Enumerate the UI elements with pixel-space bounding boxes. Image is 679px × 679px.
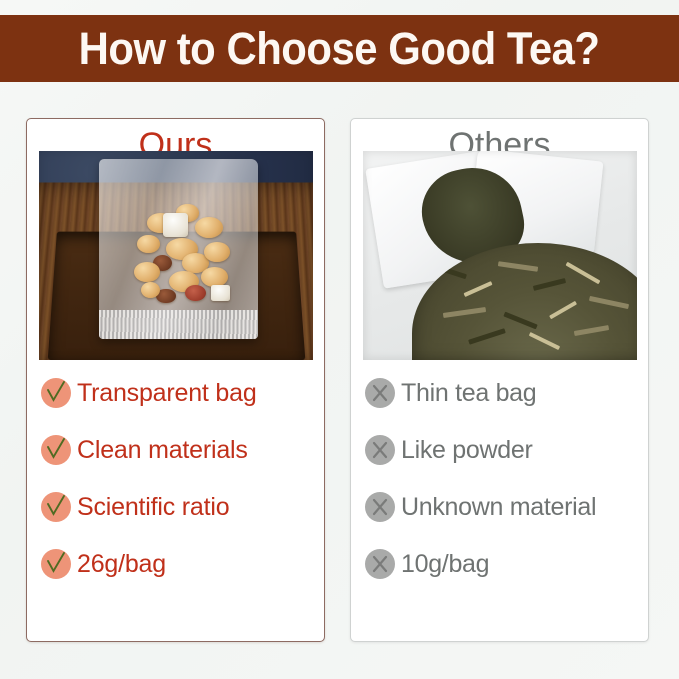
- feature-label: Unknown material: [401, 492, 596, 522]
- list-item: Like powder: [365, 430, 533, 470]
- feature-label: 10g/bag: [401, 549, 489, 579]
- list-item: Unknown material: [365, 487, 596, 527]
- panel-others: Others: [350, 118, 649, 642]
- panel-ours: Ours: [26, 118, 325, 642]
- feature-label: Like powder: [401, 435, 533, 465]
- page-title: How to Choose Good Tea?: [79, 26, 600, 71]
- comparison-infographic: How to Choose Good Tea? Ours: [0, 0, 679, 679]
- list-item: 26g/bag: [41, 544, 166, 584]
- feature-label: Transparent bag: [77, 378, 257, 408]
- check-circle-icon: [41, 549, 71, 579]
- cross-circle-icon: [365, 549, 395, 579]
- check-circle-icon: [41, 435, 71, 465]
- feature-label: Scientific ratio: [77, 492, 229, 522]
- header-banner: How to Choose Good Tea?: [0, 15, 679, 82]
- list-item: Transparent bag: [41, 373, 257, 413]
- cross-circle-icon: [365, 378, 395, 408]
- list-item: Scientific ratio: [41, 487, 229, 527]
- cross-circle-icon: [365, 492, 395, 522]
- thin-tea-bag-photo: [363, 151, 637, 360]
- feature-label: Clean materials: [77, 435, 248, 465]
- check-circle-icon: [41, 492, 71, 522]
- check-circle-icon: [41, 378, 71, 408]
- transparent-tea-bag-photo: [39, 151, 313, 360]
- feature-label: Thin tea bag: [401, 378, 536, 408]
- cross-circle-icon: [365, 435, 395, 465]
- list-item: 10g/bag: [365, 544, 489, 584]
- list-item: Clean materials: [41, 430, 248, 470]
- feature-label: 26g/bag: [77, 549, 166, 579]
- list-item: Thin tea bag: [365, 373, 536, 413]
